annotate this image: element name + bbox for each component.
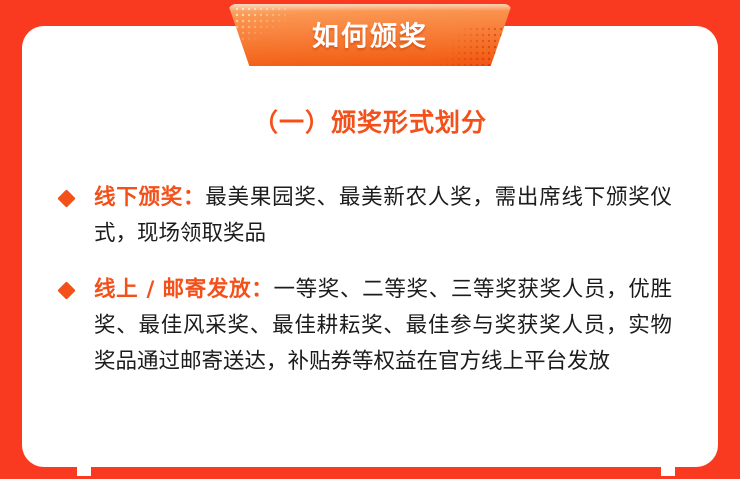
banner-sheen [228, 4, 512, 11]
card-notch-right [661, 467, 675, 476]
card-notch-left [77, 467, 91, 476]
bullet-label: 线上 / 邮寄发放： [94, 277, 273, 302]
section-title: （一）颁奖形式划分 [0, 103, 740, 139]
diamond-bullet-icon [57, 189, 75, 207]
list-item: 线上 / 邮寄发放：一等奖、二等奖、三等奖获奖人员，优胜奖、最佳风采奖、最佳耕耘… [56, 272, 672, 380]
bullet-label: 线下颁奖： [94, 185, 205, 210]
poster-root: 如何颁奖 （一）颁奖形式划分 线下颁奖：最美果园奖、最美新农人奖，需出席线下颁奖… [0, 0, 740, 479]
diamond-bullet-icon [57, 281, 75, 299]
bullet-list: 线下颁奖：最美果园奖、最美新农人奖，需出席线下颁奖仪式，现场领取奖品 线上 / … [56, 180, 672, 380]
list-item: 线下颁奖：最美果园奖、最美新农人奖，需出席线下颁奖仪式，现场领取奖品 [56, 180, 672, 252]
